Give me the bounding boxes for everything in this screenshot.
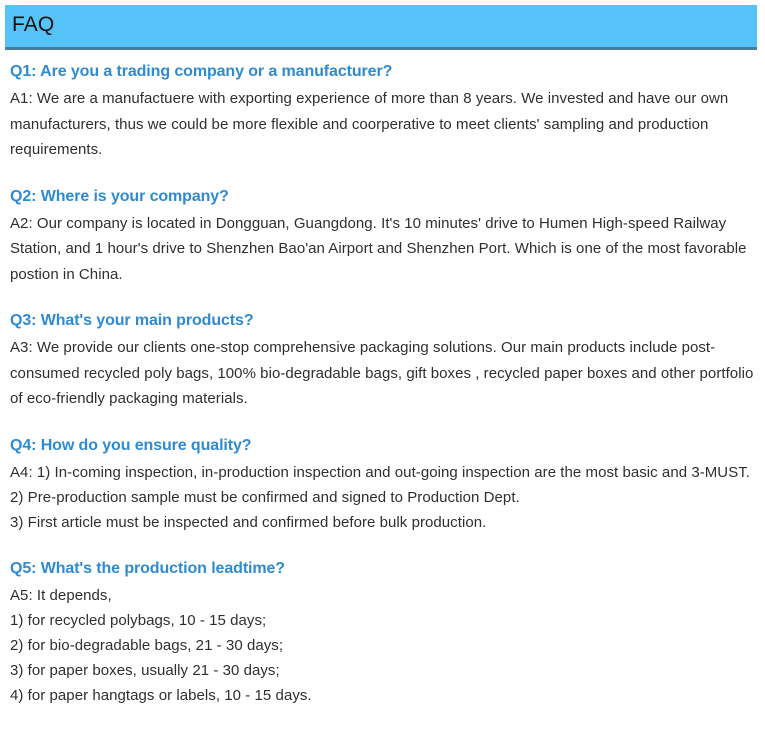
faq-question-q5: Q5: What's the production leadtime?: [10, 557, 755, 581]
faq-item-q1: Q1: Are you a trading company or a manuf…: [10, 60, 755, 163]
faq-page: FAQ Q1: Are you a trading company or a m…: [0, 0, 765, 748]
faq-answer-q5: A5: It depends, 1) for recycled polybags…: [10, 583, 755, 708]
faq-item-q4: Q4: How do you ensure quality? A4: 1) In…: [10, 434, 755, 535]
faq-list: Q1: Are you a trading company or a manuf…: [10, 60, 755, 708]
faq-question-q4: Q4: How do you ensure quality?: [10, 434, 755, 458]
faq-answer-line: 4) for paper hangtags or labels, 10 - 15…: [10, 683, 755, 708]
faq-answer-line: 2) for bio-degradable bags, 21 - 30 days…: [10, 633, 755, 658]
faq-item-q5: Q5: What's the production leadtime? A5: …: [10, 557, 755, 708]
page-title: FAQ: [12, 12, 54, 38]
faq-item-q3: Q3: What's your main products? A3: We pr…: [10, 309, 755, 412]
faq-answer-q2: A2: Our company is located in Dongguan, …: [10, 211, 755, 288]
faq-answer-line: 3) First article must be inspected and c…: [10, 510, 755, 535]
faq-answer-q4: A4: 1) In-coming inspection, in-producti…: [10, 460, 755, 535]
faq-answer-line: 1) for recycled polybags, 10 - 15 days;: [10, 608, 755, 633]
faq-answer-line: 3) for paper boxes, usually 21 - 30 days…: [10, 658, 755, 683]
faq-question-q1: Q1: Are you a trading company or a manuf…: [10, 60, 755, 84]
faq-question-q3: Q3: What's your main products?: [10, 309, 755, 333]
faq-answer-q1: A1: We are a manufactuere with exporting…: [10, 86, 755, 163]
faq-answer-line: 2) Pre-production sample must be confirm…: [10, 485, 755, 510]
faq-header-banner: FAQ: [5, 5, 757, 50]
faq-answer-line: A4: 1) In-coming inspection, in-producti…: [10, 460, 755, 485]
faq-answer-line: A1: We are a manufactuere with exporting…: [10, 86, 755, 163]
faq-answer-line: A5: It depends,: [10, 583, 755, 608]
faq-question-q2: Q2: Where is your company?: [10, 185, 755, 209]
faq-answer-q3: A3: We provide our clients one-stop comp…: [10, 335, 755, 412]
faq-item-q2: Q2: Where is your company? A2: Our compa…: [10, 185, 755, 288]
faq-answer-line: A2: Our company is located in Dongguan, …: [10, 211, 755, 288]
faq-answer-line: A3: We provide our clients one-stop comp…: [10, 335, 755, 412]
